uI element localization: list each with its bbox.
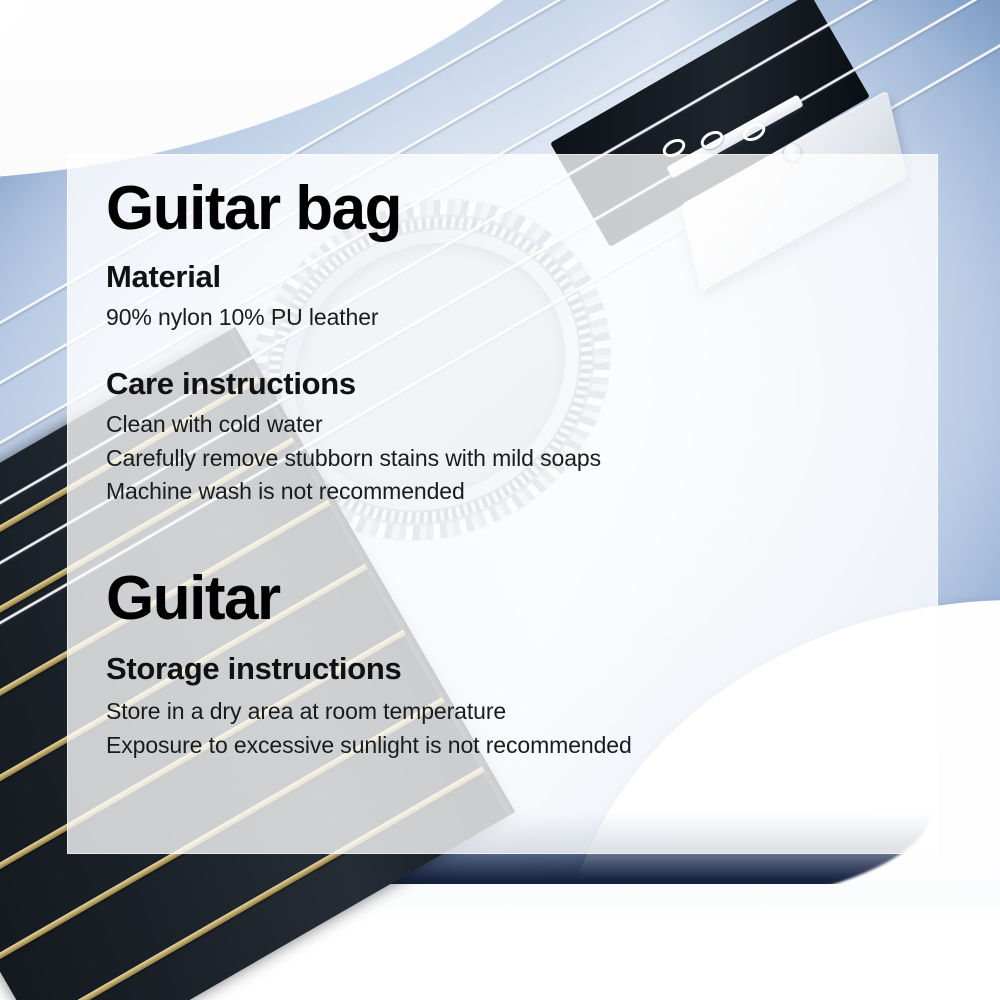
material-line: 90% nylon 10% PU leather — [106, 301, 937, 335]
heading-material: Material — [106, 258, 937, 295]
info-card: Guitar bag Material 90% nylon 10% PU lea… — [67, 154, 938, 854]
group-storage-instructions: Storage instructions Store in a dry area… — [106, 650, 937, 762]
info-card-content: Guitar bag Material 90% nylon 10% PU lea… — [68, 155, 937, 763]
care-line: Clean with cold water — [106, 408, 937, 442]
storage-line: Exposure to excessive sunlight is not re… — [106, 729, 937, 763]
care-line: Carefully remove stubborn stains with mi… — [106, 442, 937, 476]
section-title-guitar: Guitar — [106, 567, 937, 630]
section-title-guitar-bag: Guitar bag — [106, 177, 937, 240]
heading-care-instructions: Care instructions — [106, 365, 937, 402]
group-care-instructions: Care instructions Clean with cold water … — [106, 365, 937, 509]
care-line: Machine wash is not recommended — [106, 475, 937, 509]
heading-storage-instructions: Storage instructions — [106, 650, 937, 687]
storage-line: Store in a dry area at room temperature — [106, 695, 937, 729]
group-material: Material 90% nylon 10% PU leather — [106, 258, 937, 335]
product-info-slide: Guitar bag Material 90% nylon 10% PU lea… — [0, 0, 1000, 1000]
